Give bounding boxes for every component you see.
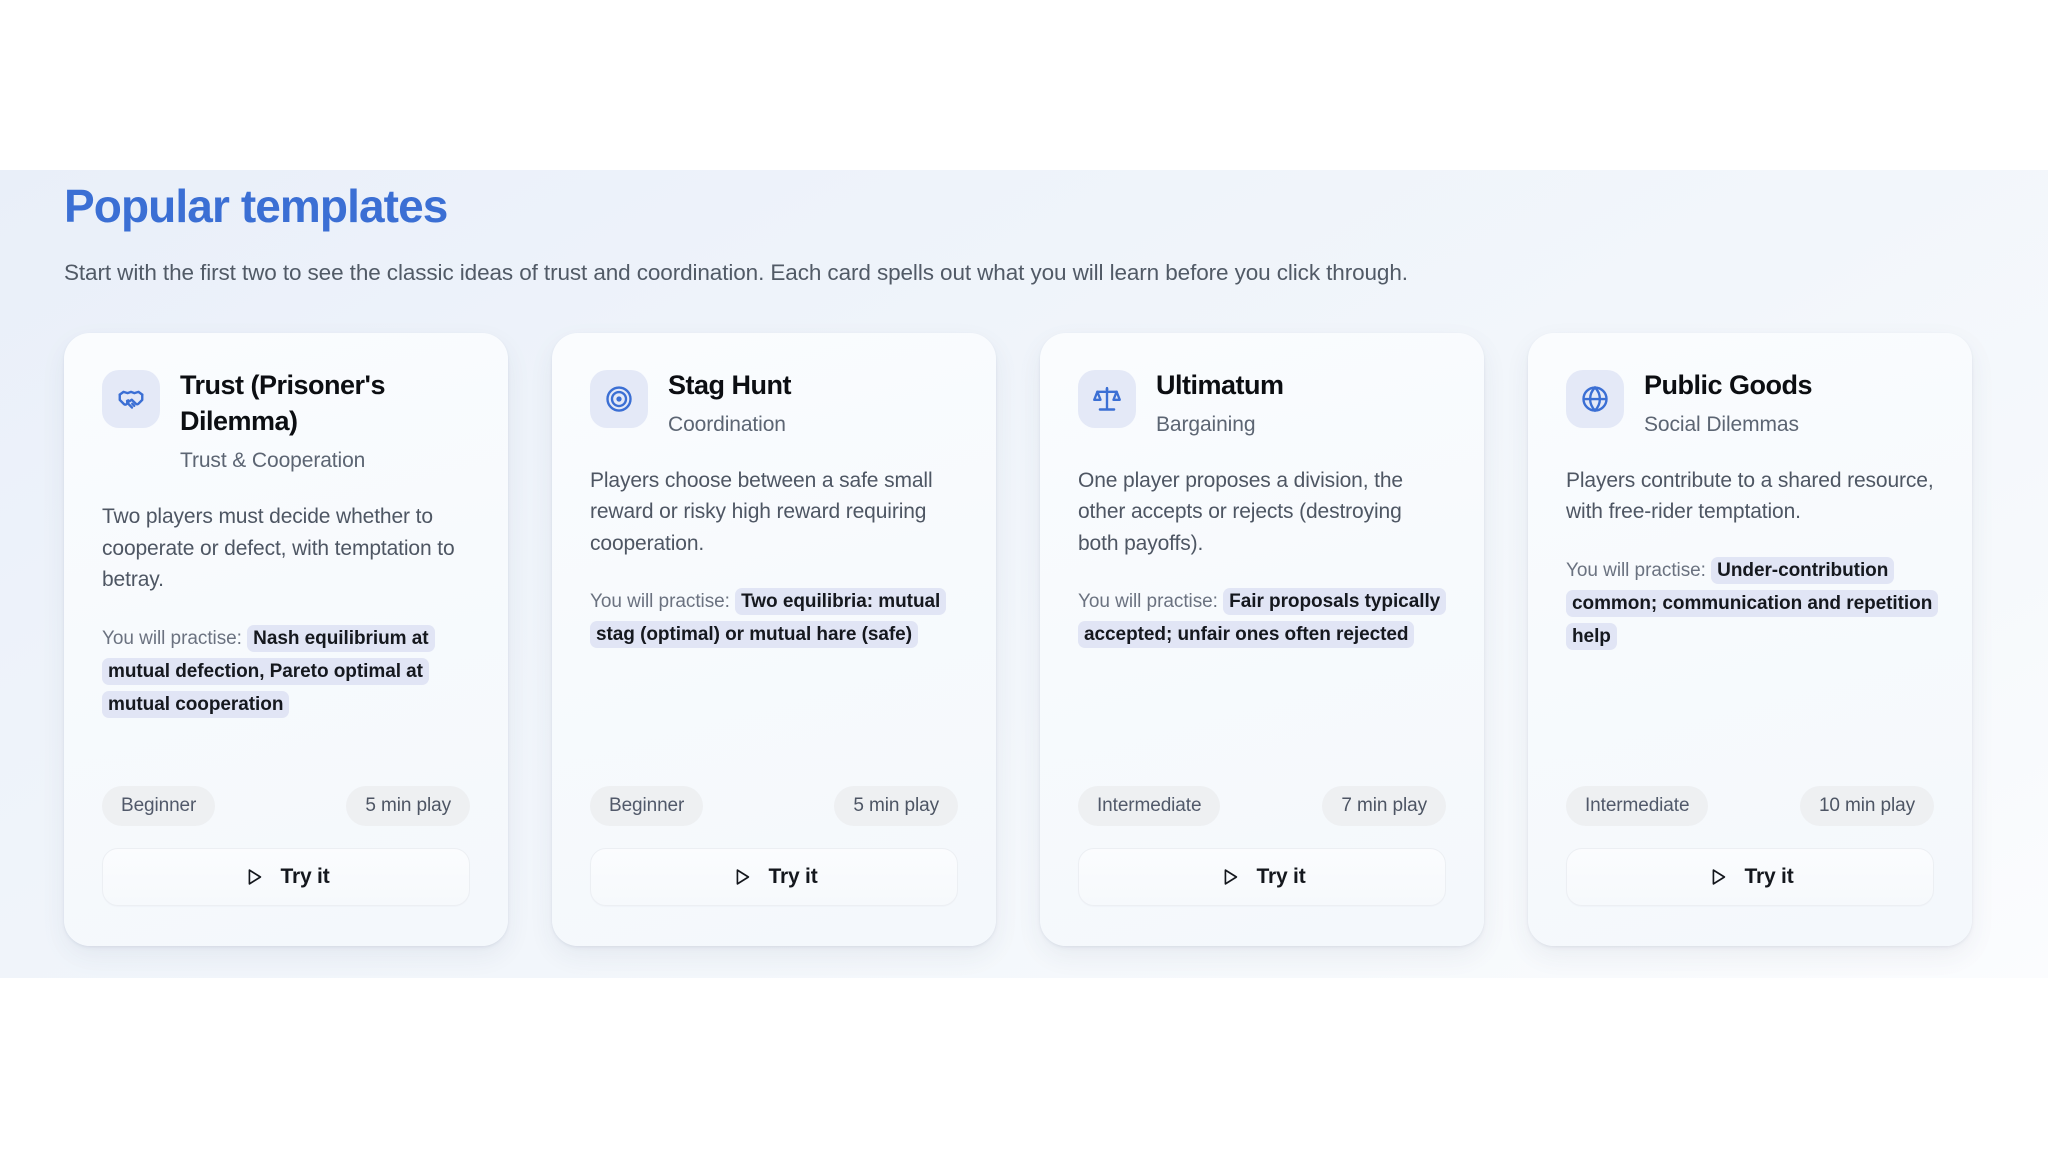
card-title: Public Goods [1644, 368, 1934, 404]
try-it-button[interactable]: Try it [102, 848, 470, 906]
template-card-stag-hunt[interactable]: Stag Hunt Coordination Players choose be… [552, 333, 996, 946]
practise-label: You will practise: [1566, 560, 1706, 581]
difficulty-badge: Intermediate [1078, 786, 1220, 826]
duration-badge: 5 min play [346, 786, 470, 826]
duration-badge: 7 min play [1322, 786, 1446, 826]
card-title: Stag Hunt [668, 368, 958, 404]
difficulty-badge: Beginner [590, 786, 703, 826]
card-header: Trust (Prisoner's Dilemma) Trust & Coope… [102, 367, 470, 473]
practise-label: You will practise: [1078, 591, 1218, 612]
card-meta-row: Intermediate 7 min play [1078, 786, 1446, 826]
duration-badge: 10 min play [1800, 786, 1934, 826]
try-it-button[interactable]: Try it [1566, 848, 1934, 906]
play-icon [1219, 866, 1241, 888]
card-meta-row: Beginner 5 min play [590, 786, 958, 826]
card-category: Coordination [668, 413, 958, 437]
card-category: Social Dilemmas [1644, 413, 1934, 437]
play-icon [731, 866, 753, 888]
try-it-button[interactable]: Try it [590, 848, 958, 906]
template-card-public-goods[interactable]: Public Goods Social Dilemmas Players con… [1528, 333, 1972, 946]
card-header: Stag Hunt Coordination [590, 367, 958, 437]
duration-badge: 5 min play [834, 786, 958, 826]
try-it-label: Try it [281, 865, 330, 889]
card-description: Players contribute to a shared resource,… [1566, 465, 1934, 528]
template-card-ultimatum[interactable]: Ultimatum Bargaining One player proposes… [1040, 333, 1484, 946]
card-meta-row: Intermediate 10 min play [1566, 786, 1934, 826]
handshake-icon [102, 370, 160, 428]
scales-icon [1078, 370, 1136, 428]
try-it-label: Try it [1257, 865, 1306, 889]
try-it-button[interactable]: Try it [1078, 848, 1446, 906]
section-subtitle: Start with the first two to see the clas… [64, 260, 1408, 286]
play-icon [1707, 866, 1729, 888]
play-icon [243, 866, 265, 888]
practise-label: You will practise: [102, 628, 242, 649]
card-title: Ultimatum [1156, 368, 1446, 404]
card-category: Bargaining [1156, 413, 1446, 437]
try-it-label: Try it [769, 865, 818, 889]
card-meta-row: Beginner 5 min play [102, 786, 470, 826]
popular-templates-section: Popular templates Start with the first t… [0, 170, 2048, 978]
card-practise: You will practise: Under-contribution co… [1566, 554, 1934, 654]
globe-icon [1566, 370, 1624, 428]
card-category: Trust & Cooperation [180, 449, 470, 473]
card-description: Players choose between a safe small rewa… [590, 465, 958, 560]
page-root: Popular templates Start with the first t… [0, 0, 2048, 1152]
template-card-list: Trust (Prisoner's Dilemma) Trust & Coope… [64, 333, 1972, 946]
template-card-trust[interactable]: Trust (Prisoner's Dilemma) Trust & Coope… [64, 333, 508, 946]
difficulty-badge: Beginner [102, 786, 215, 826]
page-title: Popular templates [64, 179, 447, 233]
card-description: Two players must decide whether to coope… [102, 501, 470, 596]
card-title: Trust (Prisoner's Dilemma) [180, 368, 430, 439]
practise-label: You will practise: [590, 591, 730, 612]
card-practise: You will practise: Nash equilibrium at m… [102, 622, 470, 722]
target-icon [590, 370, 648, 428]
card-practise: You will practise: Two equilibria: mutua… [590, 585, 958, 652]
card-practise: You will practise: Fair proposals typica… [1078, 585, 1446, 652]
try-it-label: Try it [1745, 865, 1794, 889]
card-header: Ultimatum Bargaining [1078, 367, 1446, 437]
card-header: Public Goods Social Dilemmas [1566, 367, 1934, 437]
difficulty-badge: Intermediate [1566, 786, 1708, 826]
card-description: One player proposes a division, the othe… [1078, 465, 1446, 560]
